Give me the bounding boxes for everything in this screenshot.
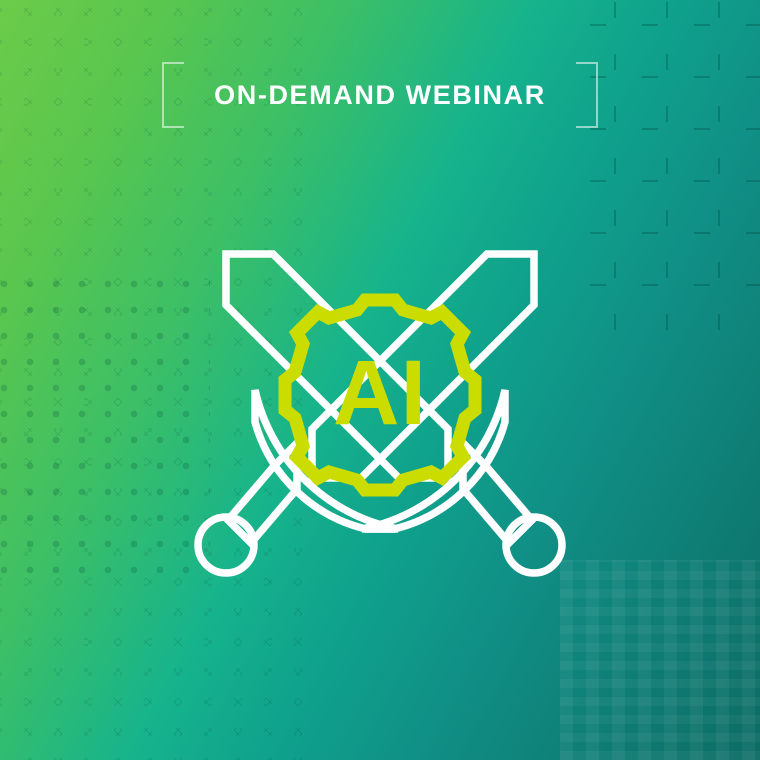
sword-left-grip (463, 443, 532, 543)
emblem-svg: AI (180, 232, 580, 594)
emblem-crossed-swords-ai-gear: AI (180, 232, 580, 594)
sword-right-grip (228, 443, 297, 543)
ai-badge-label: AI (333, 342, 427, 444)
bracket-right-icon (576, 62, 598, 128)
promo-card: ON-DEMAND WEBINAR (0, 0, 760, 760)
dot-pattern-icon (0, 280, 210, 580)
sword-left-pommel (506, 517, 562, 573)
sword-right-pommel (198, 517, 254, 573)
bracket-left-icon (162, 62, 184, 128)
eyebrow-label: ON-DEMAND WEBINAR (214, 82, 546, 109)
eyebrow-banner: ON-DEMAND WEBINAR (0, 62, 760, 128)
plus-mark-pattern-icon (590, 0, 760, 330)
block-grid-pattern-icon (560, 560, 760, 760)
